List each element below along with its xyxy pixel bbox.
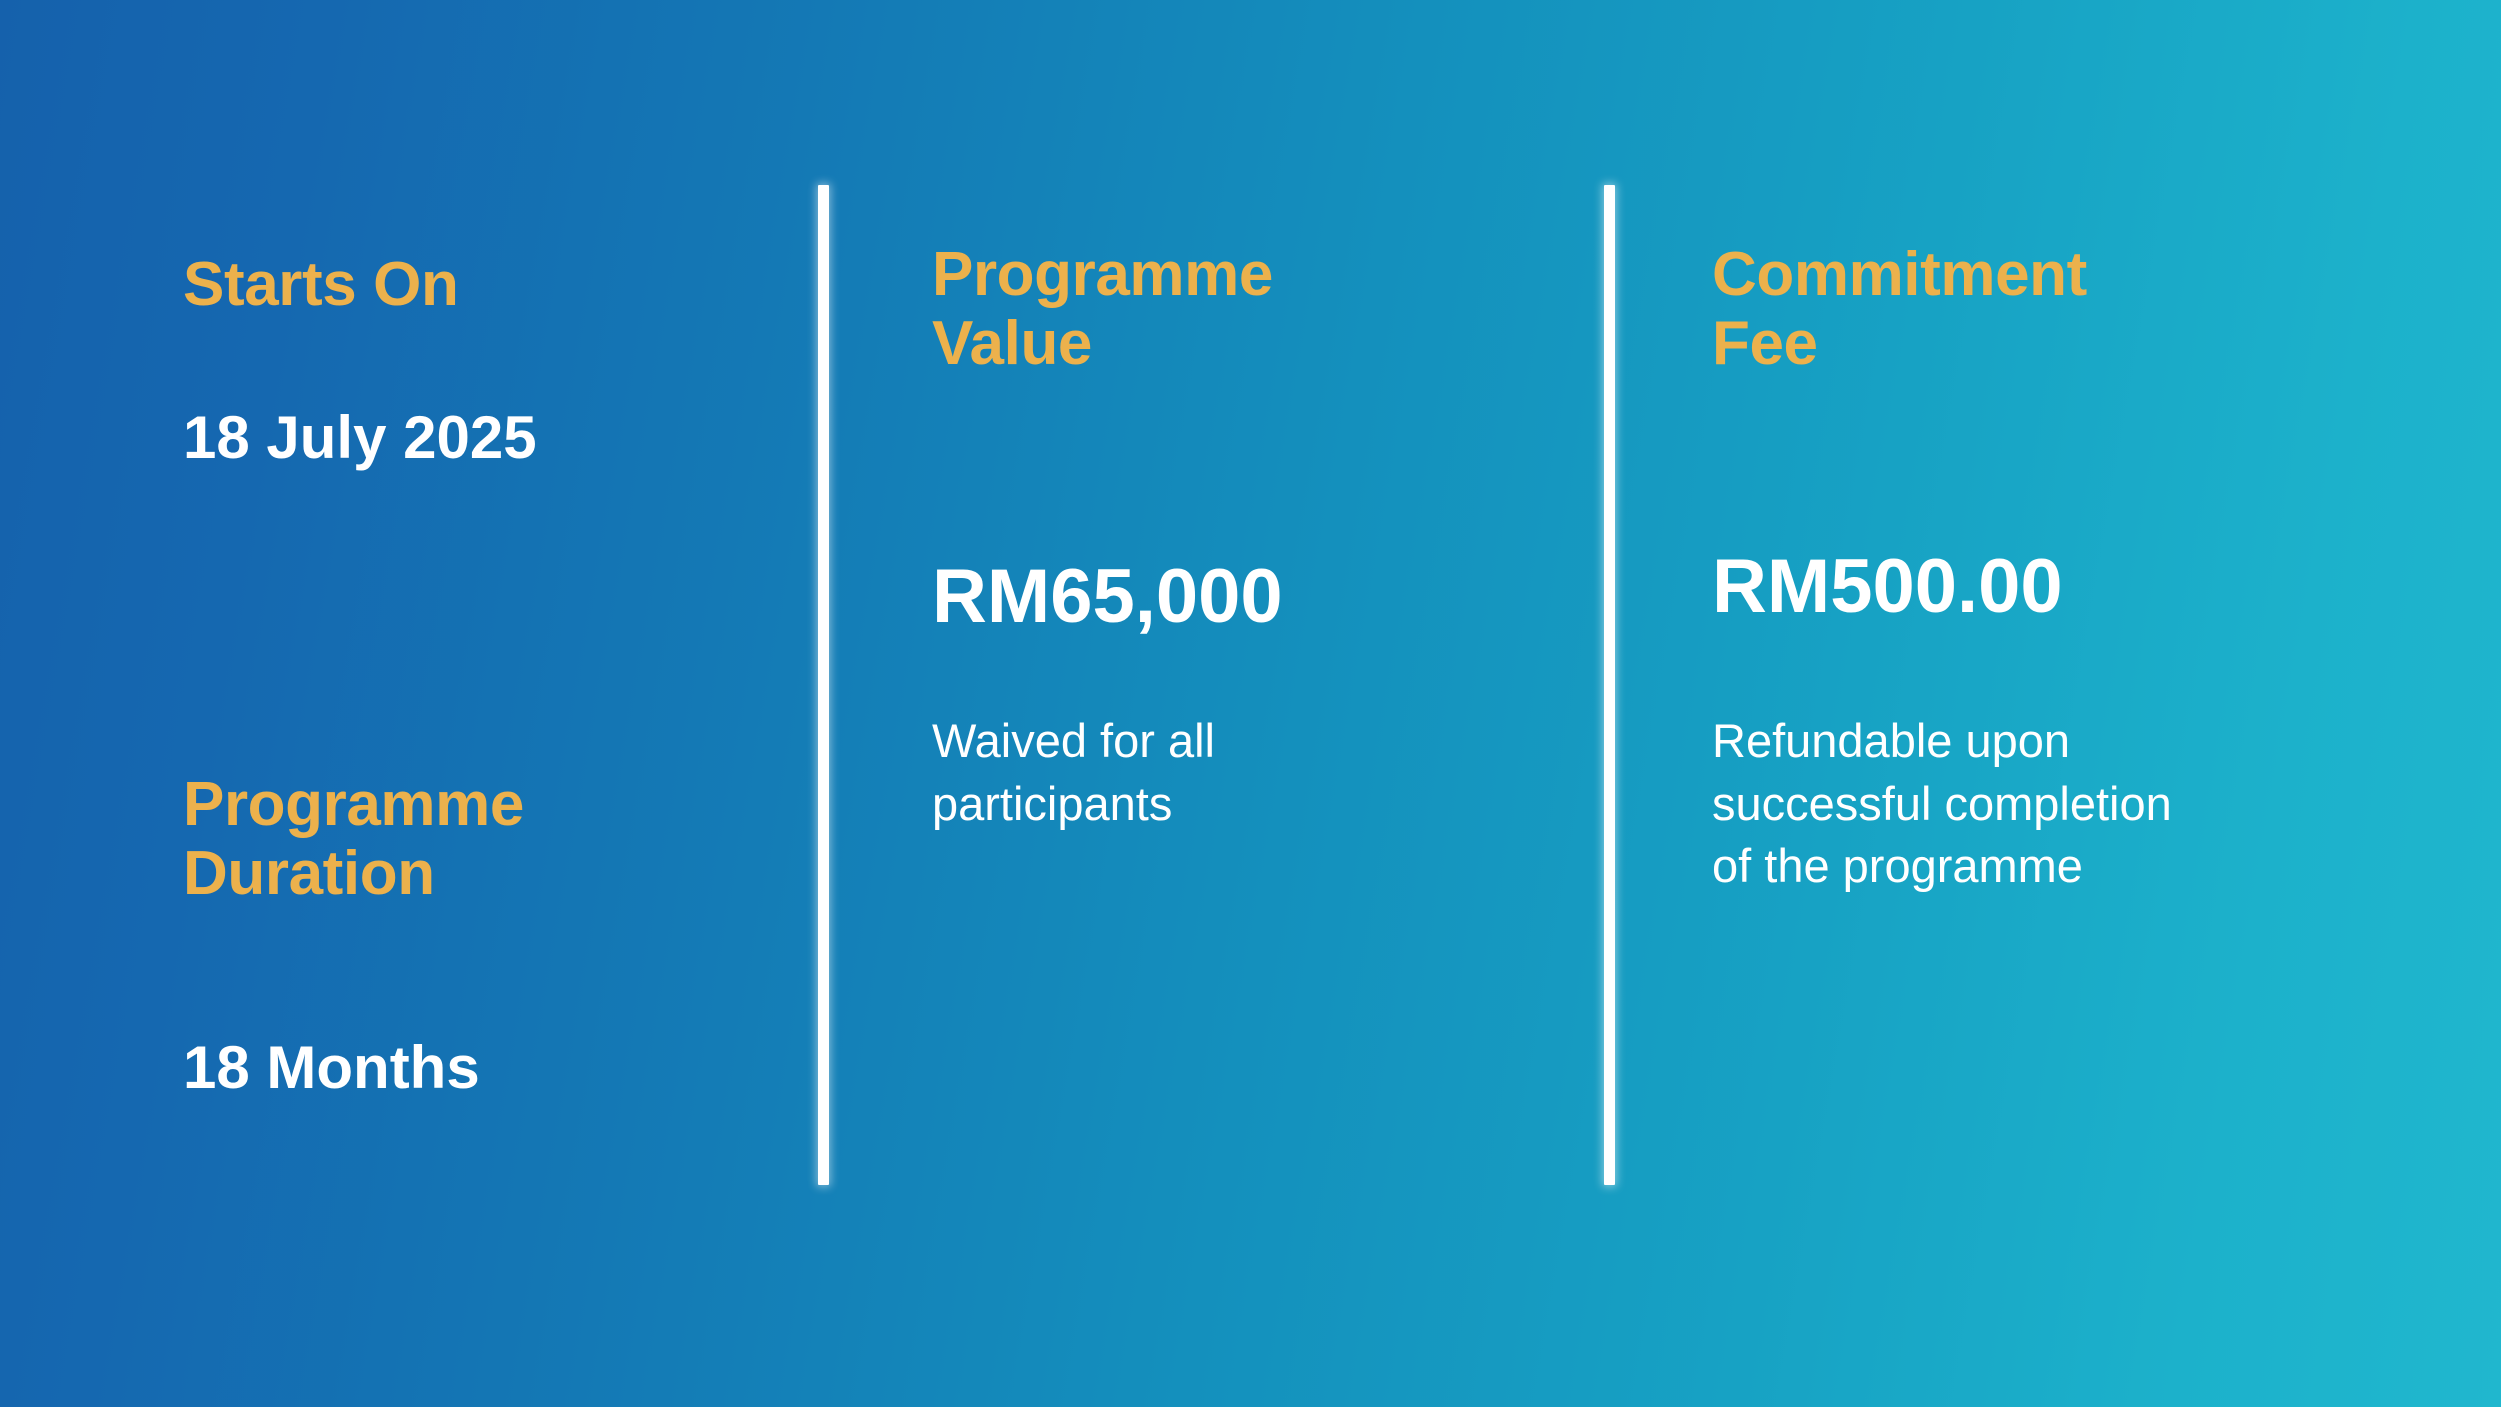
commitment-fee-amount: RM500.00 bbox=[1712, 545, 2063, 629]
start-date-value: 18 July 2025 bbox=[183, 405, 537, 471]
programme-value-note-block: Waived for all participants bbox=[932, 710, 1215, 835]
start-date-block: 18 July 2025 bbox=[183, 405, 537, 471]
commitment-fee-note: Refundable upon successful completion of… bbox=[1712, 710, 2172, 898]
programme-value-amount: RM65,000 bbox=[932, 555, 1283, 639]
starts-on-eyebrow: Starts On bbox=[183, 250, 458, 319]
commitment-fee-note-block: Refundable upon successful completion of… bbox=[1712, 710, 2172, 898]
programme-value-block: Programme Value bbox=[932, 240, 1273, 379]
duration-value: 18 Months bbox=[183, 1035, 480, 1101]
programme-value-note: Waived for all participants bbox=[932, 710, 1215, 835]
column-divider-right bbox=[1604, 185, 1615, 1185]
programme-duration-block: Programme Duration bbox=[183, 770, 524, 909]
column-commitment-fee: Commitment Fee RM500.00 Refundable upon … bbox=[1712, 0, 2412, 1407]
commitment-fee-eyebrow: Commitment Fee bbox=[1712, 240, 2087, 379]
column-divider-left bbox=[818, 185, 829, 1185]
column-programme-value: Programme Value RM65,000 Waived for all … bbox=[932, 0, 1552, 1407]
programme-duration-eyebrow: Programme Duration bbox=[183, 770, 524, 909]
commitment-fee-amount-block: RM500.00 bbox=[1712, 545, 2063, 629]
duration-value-block: 18 Months bbox=[183, 1035, 480, 1101]
starts-on-block: Starts On bbox=[183, 250, 458, 319]
column-start-and-duration: Starts On 18 July 2025 Programme Duratio… bbox=[183, 0, 783, 1407]
commitment-fee-block: Commitment Fee bbox=[1712, 240, 2087, 379]
programme-details-panel: Starts On 18 July 2025 Programme Duratio… bbox=[0, 0, 2501, 1407]
programme-value-amount-block: RM65,000 bbox=[932, 555, 1283, 639]
programme-value-eyebrow: Programme Value bbox=[932, 240, 1273, 379]
